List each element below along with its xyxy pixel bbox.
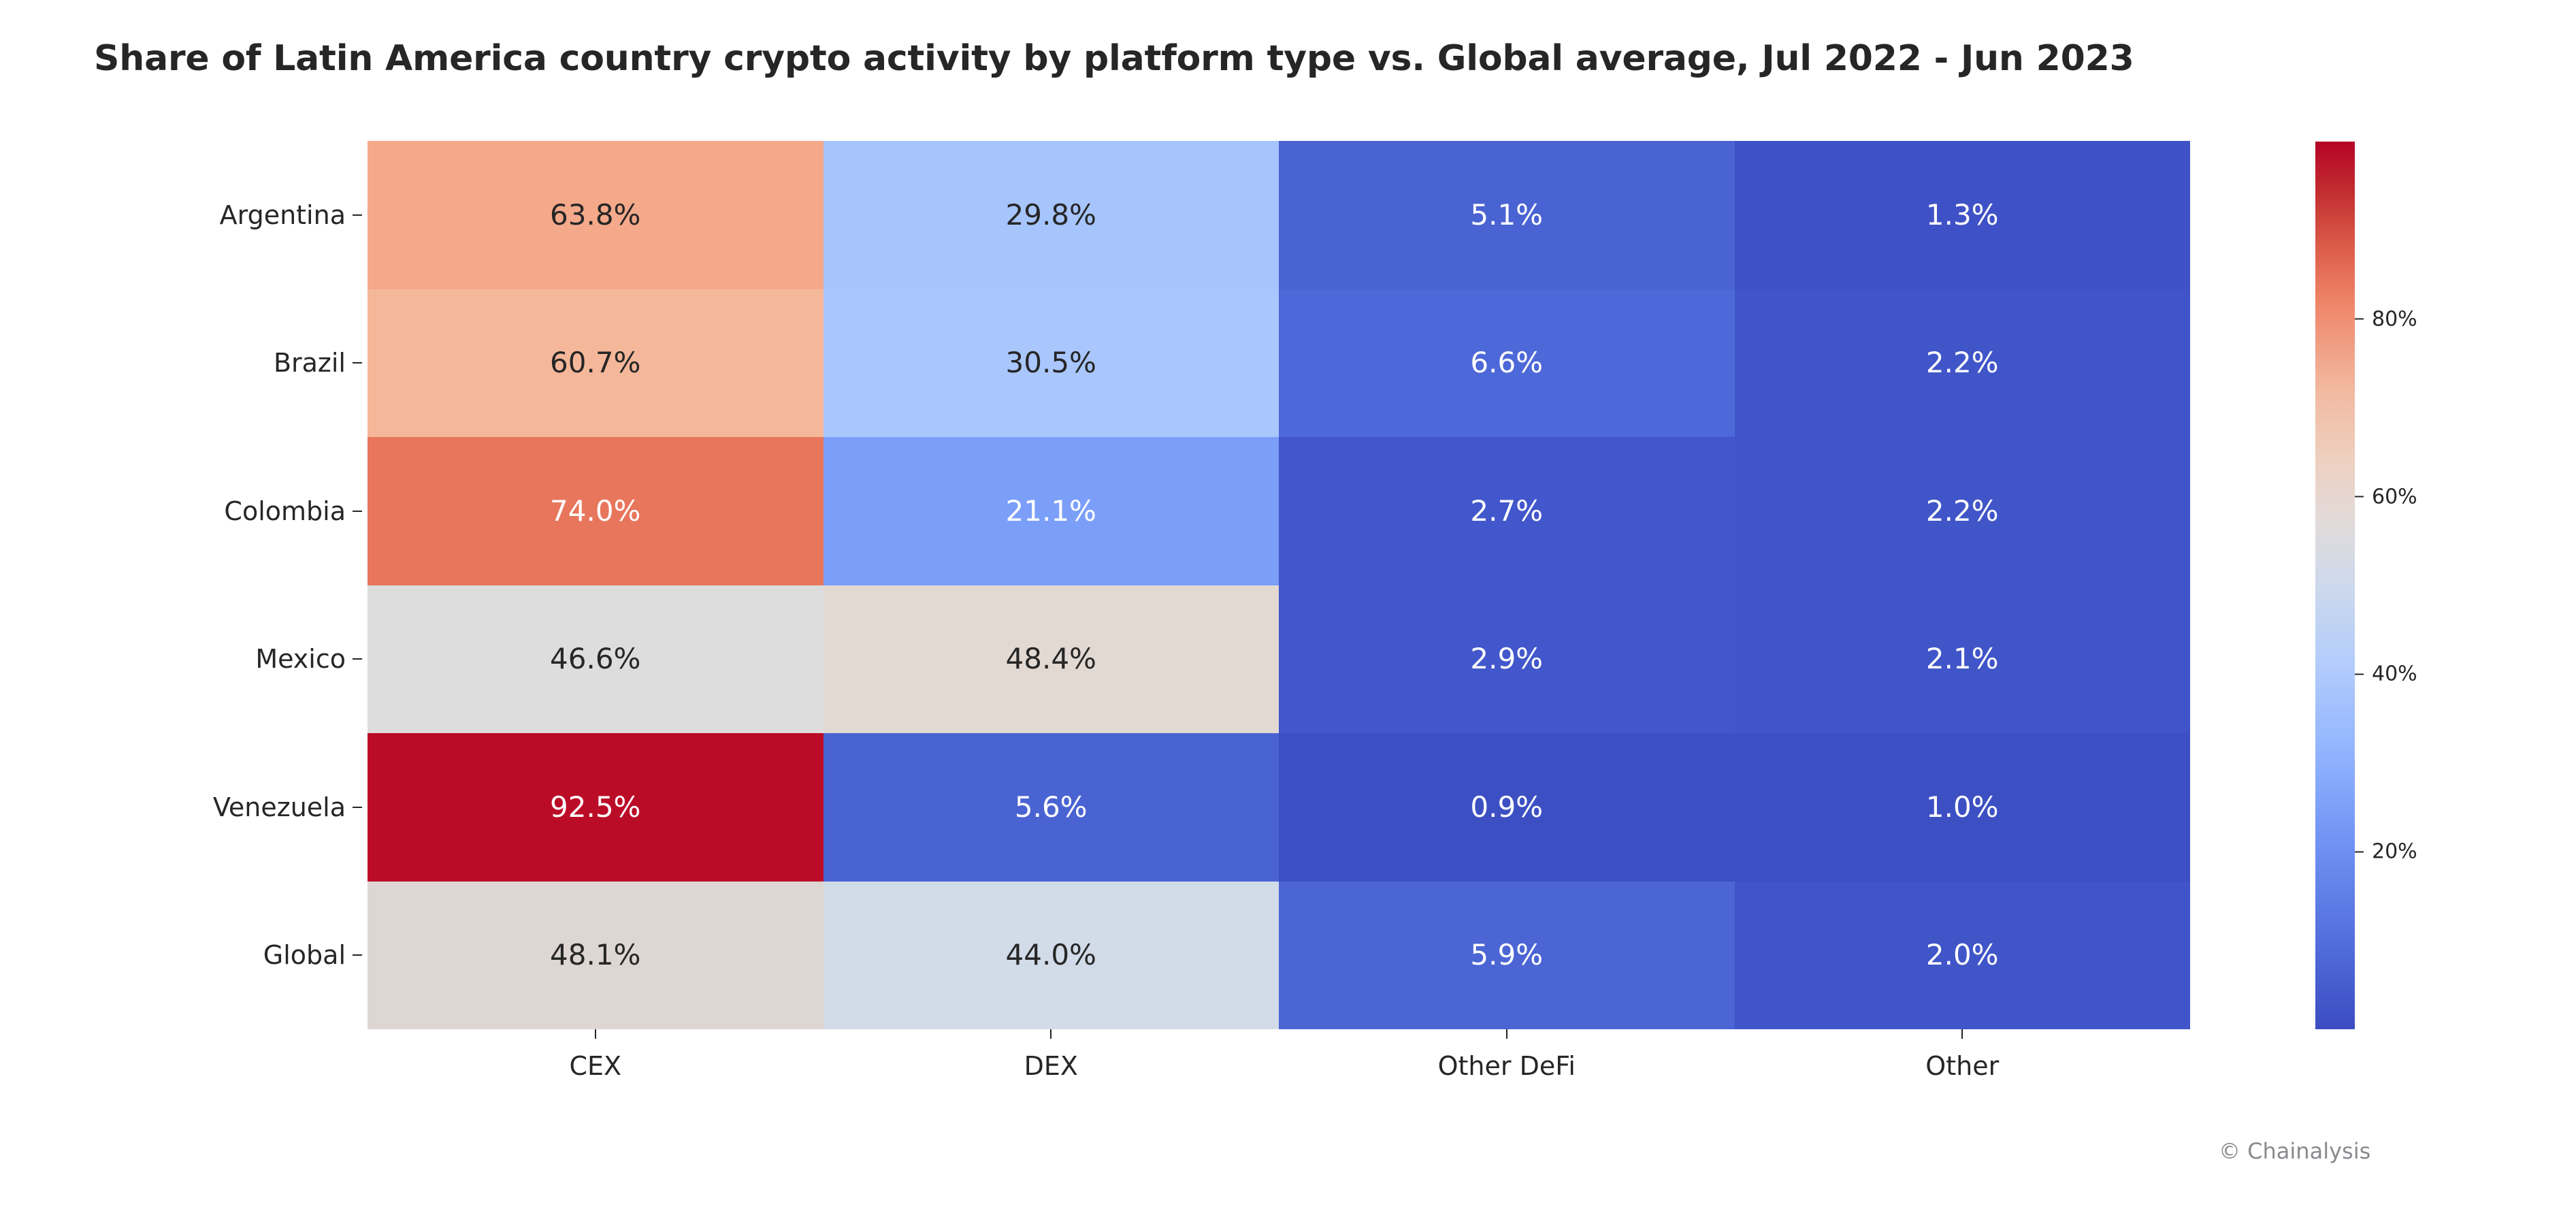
- heatmap-grid: 63.8%29.8%5.1%1.3%60.7%30.5%6.6%2.2%74.0…: [368, 141, 2190, 1029]
- heatmap-cell-label: 44.0%: [1006, 941, 1096, 969]
- y-axis-tick: Venezuela: [0, 733, 368, 882]
- heatmap-cell[interactable]: 74.0%: [368, 437, 824, 585]
- heatmap-cell-label: 46.6%: [550, 645, 640, 673]
- heatmap-cell-label: 0.9%: [1470, 793, 1543, 822]
- y-axis-tick-label: Argentina: [220, 200, 346, 230]
- heatmap-cell-label: 1.0%: [1926, 793, 1999, 822]
- heatmap-chart: Share of Latin America country crypto ac…: [0, 0, 2576, 1211]
- colorbar-tick-label: 60%: [2372, 485, 2417, 508]
- heatmap-cell-label: 2.9%: [1470, 645, 1543, 673]
- colorbar-tick-label: 80%: [2372, 307, 2417, 331]
- x-axis-tick-mark: [595, 1029, 596, 1039]
- colorbar-tick-label: 20%: [2372, 840, 2417, 864]
- heatmap-cell-label: 2.0%: [1926, 941, 1999, 969]
- heatmap-cell[interactable]: 2.7%: [1279, 437, 1735, 585]
- heatmap-cell[interactable]: 6.6%: [1279, 289, 1735, 438]
- colorbar[interactable]: 80%60%40%20%: [2315, 142, 2355, 1029]
- y-axis-tick: Mexico: [0, 585, 368, 734]
- heatmap-cell[interactable]: 2.9%: [1279, 585, 1735, 734]
- heatmap-cell[interactable]: 63.8%: [368, 141, 824, 289]
- heatmap-cell-label: 2.2%: [1926, 497, 1999, 526]
- heatmap-cell-label: 48.4%: [1006, 645, 1096, 673]
- x-axis-tick-label: Other DeFi: [1438, 1051, 1576, 1081]
- x-axis-tick-mark: [1961, 1029, 1963, 1039]
- x-axis-tick-mark: [1050, 1029, 1051, 1039]
- colorbar-tick: 60%: [2355, 485, 2417, 508]
- heatmap-cell[interactable]: 60.7%: [368, 289, 824, 438]
- colorbar-tick-label: 40%: [2372, 662, 2417, 686]
- y-axis-tick-mark: [353, 954, 362, 956]
- heatmap-cell[interactable]: 48.1%: [368, 882, 824, 1030]
- heatmap-cell[interactable]: 5.6%: [824, 733, 1279, 882]
- heatmap-cell[interactable]: 46.6%: [368, 585, 824, 734]
- heatmap-cell-label: 5.6%: [1015, 793, 1088, 822]
- y-axis-tick-label: Global: [263, 940, 346, 970]
- y-axis-tick: Argentina: [0, 141, 368, 289]
- heatmap-cell-label: 74.0%: [550, 497, 640, 526]
- heatmap-cell[interactable]: 44.0%: [824, 882, 1279, 1030]
- x-axis-tick-label: CEX: [569, 1051, 621, 1081]
- colorbar-tick-mark: [2355, 673, 2364, 675]
- heatmap-cell[interactable]: 21.1%: [824, 437, 1279, 585]
- colorbar-tick-mark: [2355, 851, 2364, 852]
- y-axis-tick-mark: [353, 658, 362, 660]
- x-axis-tick-label: DEX: [1024, 1051, 1078, 1081]
- heatmap-cell[interactable]: 5.9%: [1279, 882, 1735, 1030]
- heatmap-cell[interactable]: 2.1%: [1735, 585, 2191, 734]
- heatmap-cell[interactable]: 30.5%: [824, 289, 1279, 438]
- heatmap-cell[interactable]: 2.0%: [1735, 882, 2191, 1030]
- colorbar-tick: 20%: [2355, 840, 2417, 864]
- x-axis-tick: Other: [1735, 1029, 2191, 1081]
- x-axis-tick: CEX: [368, 1029, 824, 1081]
- attribution-text: © Chainalysis: [2219, 1138, 2370, 1164]
- plot-area: 63.8%29.8%5.1%1.3%60.7%30.5%6.6%2.2%74.0…: [368, 141, 2190, 1029]
- y-axis-tick-label: Colombia: [224, 496, 346, 526]
- heatmap-cell-label: 5.1%: [1470, 201, 1543, 229]
- colorbar-tick-mark: [2355, 319, 2364, 320]
- heatmap-cell[interactable]: 2.2%: [1735, 289, 2191, 438]
- heatmap-cell-label: 5.9%: [1470, 941, 1543, 969]
- heatmap-cell[interactable]: 1.3%: [1735, 141, 2191, 289]
- y-axis-tick: Brazil: [0, 289, 368, 438]
- x-axis-tick-label: Other: [1925, 1051, 1999, 1081]
- y-axis-tick-mark: [353, 807, 362, 808]
- colorbar-tick-mark: [2355, 496, 2364, 498]
- heatmap-cell[interactable]: 0.9%: [1279, 733, 1735, 882]
- y-axis-tick-mark: [353, 214, 362, 216]
- y-axis-tick-label: Mexico: [255, 644, 346, 674]
- heatmap-cell-label: 48.1%: [550, 941, 640, 969]
- y-axis: ArgentinaBrazilColombiaMexicoVenezuelaGl…: [0, 141, 368, 1029]
- y-axis-tick-mark: [353, 362, 362, 364]
- heatmap-cell[interactable]: 29.8%: [824, 141, 1279, 289]
- heatmap-cell[interactable]: 48.4%: [824, 585, 1279, 734]
- colorbar-tick: 40%: [2355, 662, 2417, 686]
- heatmap-cell[interactable]: 1.0%: [1735, 733, 2191, 882]
- x-axis-tick: Other DeFi: [1279, 1029, 1735, 1081]
- heatmap-cell-label: 29.8%: [1006, 201, 1096, 229]
- y-axis-tick: Colombia: [0, 437, 368, 585]
- x-axis-tick: DEX: [824, 1029, 1279, 1081]
- heatmap-cell-label: 6.6%: [1470, 349, 1543, 377]
- heatmap-cell-label: 1.3%: [1926, 201, 1999, 229]
- y-axis-tick-mark: [353, 511, 362, 512]
- heatmap-cell[interactable]: 92.5%: [368, 733, 824, 882]
- heatmap-cell-label: 2.2%: [1926, 349, 1999, 377]
- chart-title: Share of Latin America country crypto ac…: [94, 38, 2134, 79]
- heatmap-cell-label: 2.1%: [1926, 645, 1999, 673]
- heatmap-cell-label: 21.1%: [1006, 497, 1096, 526]
- heatmap-cell-label: 92.5%: [550, 793, 640, 822]
- heatmap-cell-label: 63.8%: [550, 201, 640, 229]
- y-axis-tick-label: Venezuela: [213, 792, 346, 822]
- y-axis-tick-label: Brazil: [274, 348, 346, 378]
- x-axis: CEXDEXOther DeFiOther: [368, 1029, 2190, 1104]
- heatmap-cell[interactable]: 2.2%: [1735, 437, 2191, 585]
- heatmap-cell[interactable]: 5.1%: [1279, 141, 1735, 289]
- y-axis-tick: Global: [0, 882, 368, 1030]
- colorbar-tick: 80%: [2355, 307, 2417, 331]
- colorbar-gradient: [2315, 142, 2355, 1029]
- heatmap-cell-label: 2.7%: [1470, 497, 1543, 526]
- x-axis-tick-mark: [1506, 1029, 1507, 1039]
- heatmap-cell-label: 30.5%: [1006, 349, 1096, 377]
- heatmap-cell-label: 60.7%: [550, 349, 640, 377]
